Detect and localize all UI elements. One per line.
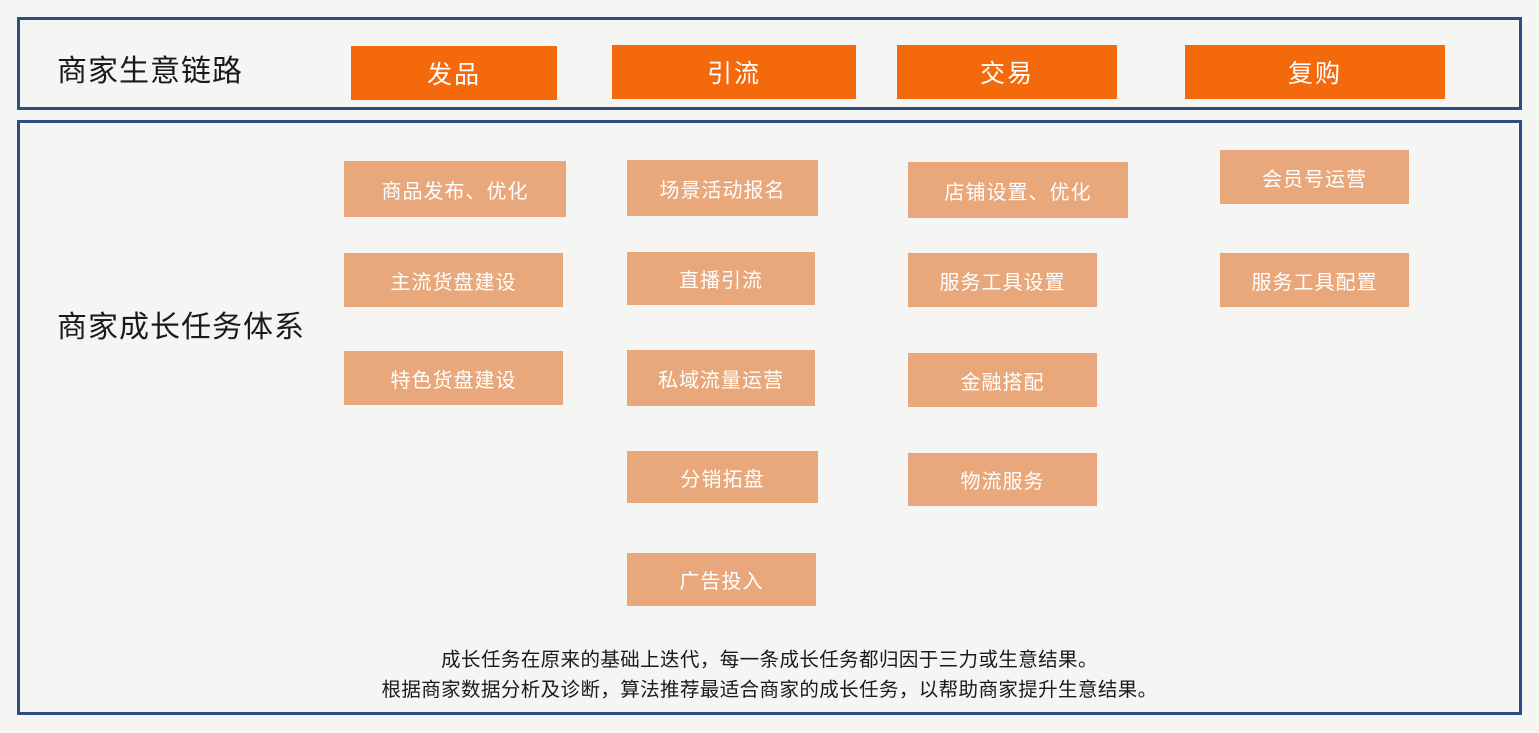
task-box[interactable]: 直播引流 <box>627 252 815 305</box>
stage-button[interactable]: 发品 <box>351 46 557 100</box>
growth-task-row-label: 商家成长任务体系 <box>57 313 305 343</box>
task-box[interactable]: 主流货盘建设 <box>344 253 563 307</box>
task-box[interactable]: 广告投入 <box>627 553 816 606</box>
footnote-line-2: 根据商家数据分析及诊断，算法推荐最适合商家的成长任务，以帮助商家提升生意结果。 <box>17 675 1522 705</box>
stage-button[interactable]: 交易 <box>897 45 1117 99</box>
stage-button[interactable]: 引流 <box>612 45 856 99</box>
task-box[interactable]: 分销拓盘 <box>627 451 818 503</box>
footnote-line-1: 成长任务在原来的基础上迭代，每一条成长任务都归因于三力或生意结果。 <box>17 645 1522 675</box>
task-box[interactable]: 场景活动报名 <box>627 160 818 216</box>
footnote-block: 成长任务在原来的基础上迭代，每一条成长任务都归因于三力或生意结果。 根据商家数据… <box>17 645 1522 705</box>
task-box[interactable]: 服务工具配置 <box>1220 253 1409 307</box>
task-box[interactable]: 物流服务 <box>908 453 1097 506</box>
business-chain-row-label: 商家生意链路 <box>57 57 243 87</box>
task-box[interactable]: 特色货盘建设 <box>344 351 563 405</box>
task-box[interactable]: 店铺设置、优化 <box>908 162 1128 218</box>
diagram-canvas: 商家生意链路 发品引流交易复购 商家成长任务体系 商品发布、优化主流货盘建设特色… <box>0 0 1539 733</box>
task-box[interactable]: 金融搭配 <box>908 353 1097 407</box>
task-box[interactable]: 服务工具设置 <box>908 253 1097 307</box>
stage-button[interactable]: 复购 <box>1185 45 1445 99</box>
task-box[interactable]: 私域流量运营 <box>627 350 815 406</box>
task-box[interactable]: 商品发布、优化 <box>344 161 566 217</box>
task-box[interactable]: 会员号运营 <box>1220 150 1409 204</box>
